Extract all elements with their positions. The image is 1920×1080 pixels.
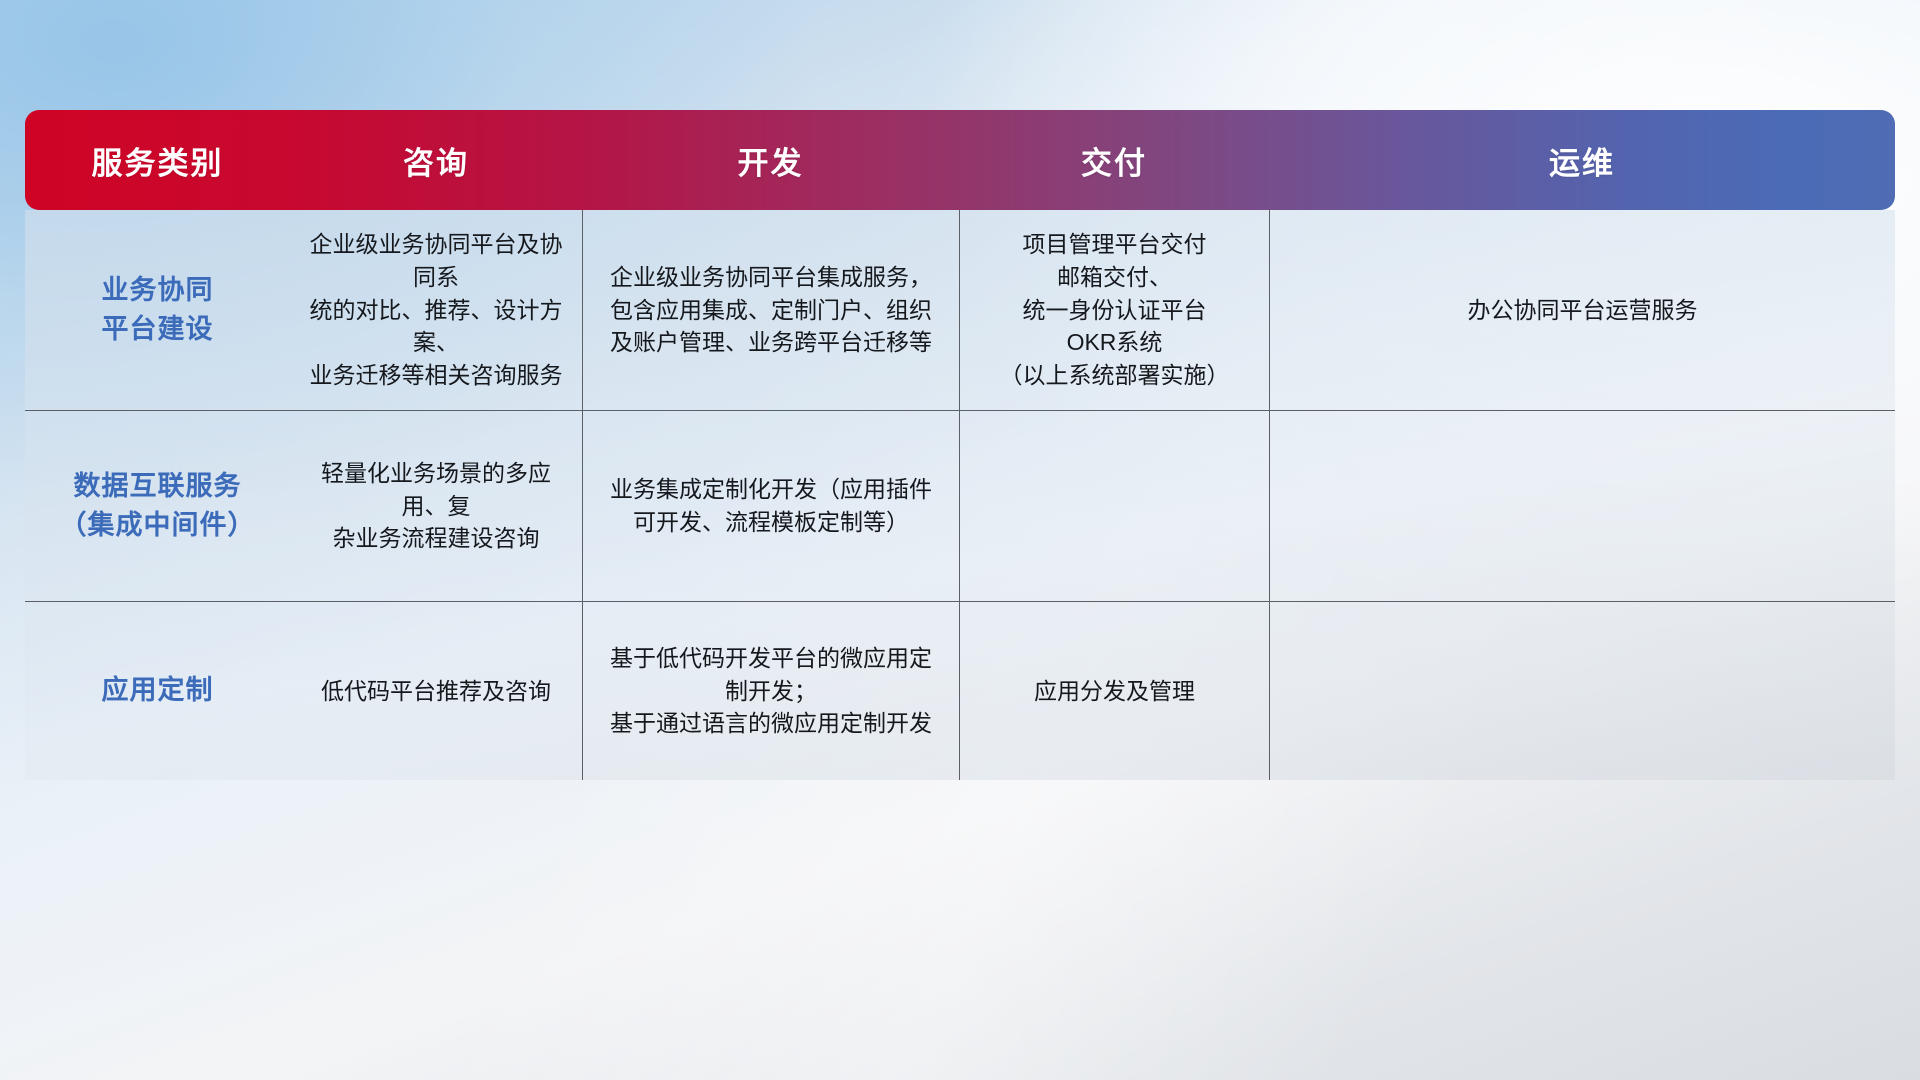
column-header-operations: 运维 <box>1269 110 1895 210</box>
row-label-app-customization: 应用定制 <box>25 602 290 780</box>
cell-operations <box>1269 411 1895 601</box>
cell-development: 企业级业务协同平台集成服务， 包含应用集成、定制门户、组织 及账户管理、业务跨平… <box>582 210 959 410</box>
cell-delivery <box>959 411 1269 601</box>
cell-consulting: 低代码平台推荐及咨询 <box>290 602 582 780</box>
row-label-data-interconnect: 数据互联服务 （集成中间件） <box>25 411 290 601</box>
cell-consulting: 轻量化业务场景的多应用、复 杂业务流程建设咨询 <box>290 411 582 601</box>
table-header-row: 服务类别 咨询 开发 交付 运维 <box>25 110 1895 210</box>
cell-consulting: 企业级业务协同平台及协同系 统的对比、推荐、设计方案、 业务迁移等相关咨询服务 <box>290 210 582 410</box>
column-header-consulting: 咨询 <box>290 110 582 210</box>
cell-delivery: 应用分发及管理 <box>959 602 1269 780</box>
column-header-delivery: 交付 <box>959 110 1269 210</box>
table-row: 应用定制 低代码平台推荐及咨询 基于低代码开发平台的微应用定 制开发； 基于通过… <box>25 601 1895 780</box>
service-matrix-table: 服务类别 咨询 开发 交付 运维 业务协同 平台建设 企业级业务协同平台及协同系… <box>25 110 1895 778</box>
cell-operations <box>1269 602 1895 780</box>
row-label-business-collaboration: 业务协同 平台建设 <box>25 210 290 410</box>
column-header-service-category: 服务类别 <box>25 110 290 210</box>
cell-development: 业务集成定制化开发（应用插件 可开发、流程模板定制等） <box>582 411 959 601</box>
column-header-development: 开发 <box>582 110 959 210</box>
table-body: 业务协同 平台建设 企业级业务协同平台及协同系 统的对比、推荐、设计方案、 业务… <box>25 210 1895 780</box>
table-row: 数据互联服务 （集成中间件） 轻量化业务场景的多应用、复 杂业务流程建设咨询 业… <box>25 410 1895 601</box>
cell-operations: 办公协同平台运营服务 <box>1269 210 1895 410</box>
table-row: 业务协同 平台建设 企业级业务协同平台及协同系 统的对比、推荐、设计方案、 业务… <box>25 210 1895 410</box>
cell-development: 基于低代码开发平台的微应用定 制开发； 基于通过语言的微应用定制开发 <box>582 602 959 780</box>
cell-delivery: 项目管理平台交付 邮箱交付、 统一身份认证平台 OKR系统 （以上系统部署实施） <box>959 210 1269 410</box>
